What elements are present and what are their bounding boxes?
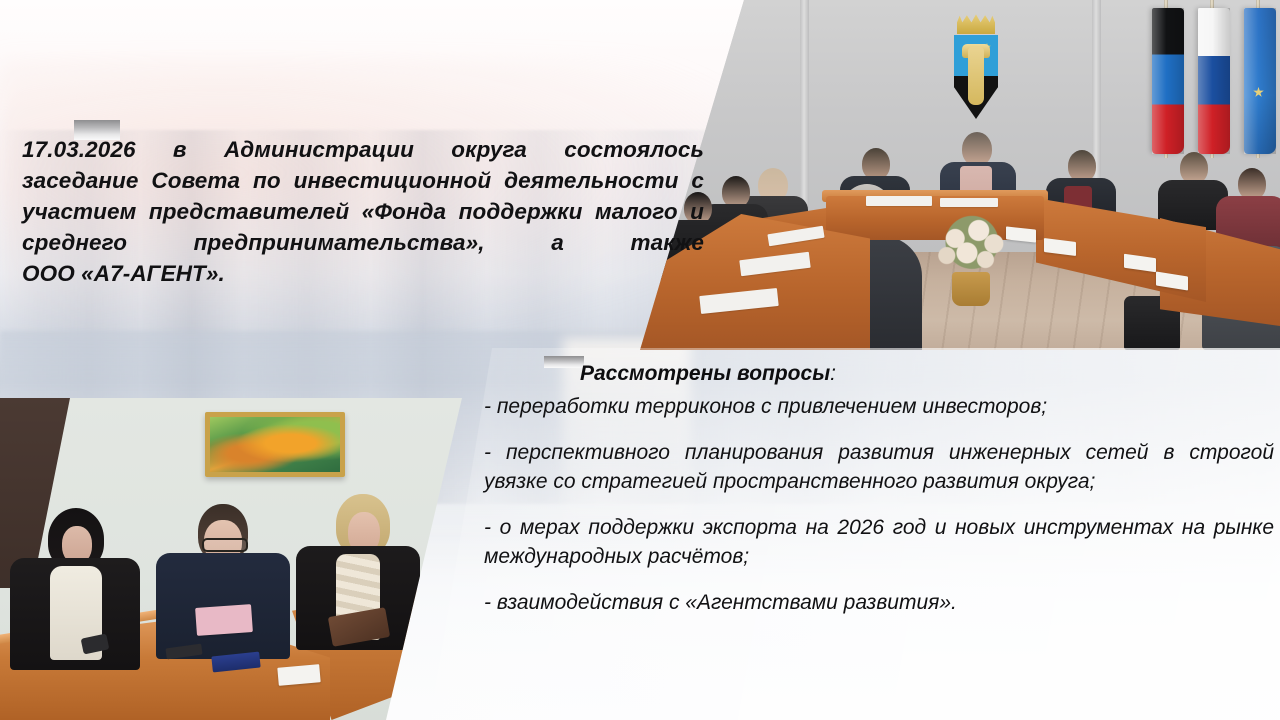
intro-line: 17.03.2026 в Администрации округа состоя…	[22, 134, 704, 165]
photo-meeting-room	[640, 0, 1280, 350]
slide-root: 17.03.2026 в Администрации округа состоя…	[0, 0, 1280, 720]
fist-icon	[968, 47, 984, 105]
questions-heading-colon: :	[830, 362, 836, 385]
paper-sheet	[195, 604, 253, 636]
flag-sheen	[1152, 8, 1184, 154]
shield-shape	[954, 35, 998, 119]
wall-painting	[205, 412, 345, 477]
crown-icon	[957, 14, 995, 34]
person-head	[962, 132, 992, 166]
intro-paragraph: 17.03.2026 в Администрации округа состоя…	[22, 134, 704, 289]
intro-line: участием представителей «Фонда поддержки…	[22, 196, 704, 227]
intro-line: заседание Совета по инвестиционной деяте…	[22, 165, 704, 196]
office-scene	[0, 398, 465, 720]
flag-sheen	[1198, 8, 1230, 154]
glasses-icon	[202, 538, 248, 552]
bouquet	[930, 212, 1014, 278]
flag-dpr	[1152, 8, 1184, 154]
flag-sheen	[1244, 8, 1276, 154]
flag-russia	[1198, 8, 1230, 154]
coat-of-arms-icon	[948, 14, 1004, 122]
nameplate	[277, 664, 320, 686]
paper-sheet	[866, 196, 932, 206]
paper-sheet	[940, 198, 998, 207]
flag-city	[1244, 8, 1276, 154]
question-item: - переработки терриконов с привлечением …	[484, 392, 1274, 421]
meeting-room-scene	[640, 0, 1280, 350]
questions-tab-mark	[544, 356, 584, 368]
question-item: - взаимодействия с «Агентствами развития…	[484, 588, 1274, 617]
intro-line: ООО «А7-АГЕНТ».	[22, 258, 704, 289]
questions-heading: Рассмотрены вопросы:	[580, 362, 836, 386]
question-item: - о мерах поддержки экспорта на 2026 год…	[484, 513, 1274, 571]
questions-list: - переработки терриконов с привлечением …	[484, 392, 1274, 634]
intro-line: среднего предпринимательства», а также	[22, 227, 704, 258]
question-item: - перспективного планирования развития и…	[484, 438, 1274, 496]
photo-staff-table	[0, 398, 465, 720]
questions-heading-text: Рассмотрены вопросы	[580, 362, 830, 385]
